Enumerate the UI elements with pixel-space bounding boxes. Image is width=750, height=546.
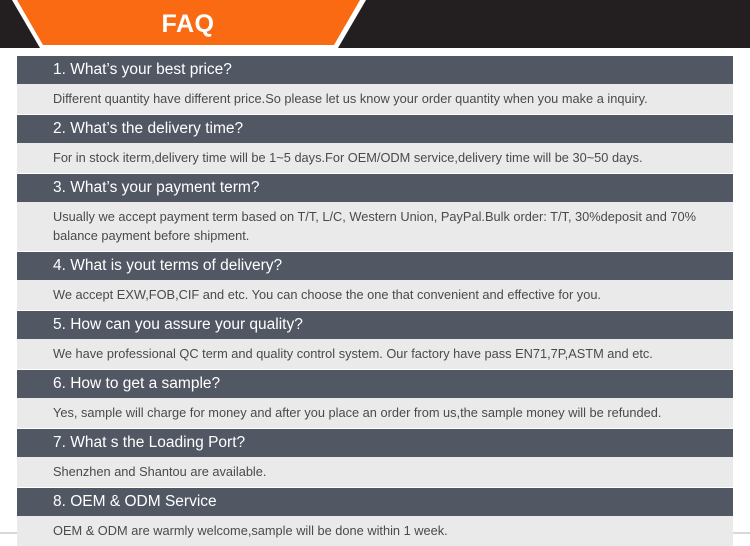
faq-question[interactable]: 2. What’s the delivery time? <box>17 115 733 143</box>
faq-question[interactable]: 3. What’s your payment term? <box>17 174 733 202</box>
faq-question[interactable]: 5. How can you assure your quality? <box>17 311 733 339</box>
faq-answer: Shenzhen and Shantou are available. <box>17 457 733 487</box>
faq-header: FAQ <box>0 0 750 48</box>
faq-item: 1. What’s your best price? Different qua… <box>17 56 733 114</box>
faq-item: 2. What’s the delivery time? For in stoc… <box>17 115 733 173</box>
faq-question[interactable]: 8. OEM & ODM Service <box>17 488 733 516</box>
page-title: FAQ <box>0 0 372 48</box>
faq-item: 6. How to get a sample? Yes, sample will… <box>17 370 733 428</box>
faq-answer: We have professional QC term and quality… <box>17 339 733 369</box>
faq-page: FAQ 1. What’s your best price? Different… <box>0 0 750 534</box>
faq-question[interactable]: 4. What is yout terms of delivery? <box>17 252 733 280</box>
faq-list: 1. What’s your best price? Different qua… <box>17 56 733 546</box>
faq-item: 4. What is yout terms of delivery? We ac… <box>17 252 733 310</box>
faq-answer: Different quantity have different price.… <box>17 84 733 114</box>
faq-item: 7. What s the Loading Port? Shenzhen and… <box>17 429 733 487</box>
faq-answer: Usually we accept payment term based on … <box>17 202 733 251</box>
faq-question[interactable]: 7. What s the Loading Port? <box>17 429 733 457</box>
faq-item: 5. How can you assure your quality? We h… <box>17 311 733 369</box>
faq-answer: Yes, sample will charge for money and af… <box>17 398 733 428</box>
faq-answer: OEM & ODM are warmly welcome,sample will… <box>17 516 733 546</box>
faq-item: 3. What’s your payment term? Usually we … <box>17 174 733 251</box>
faq-answer: We accept EXW,FOB,CIF and etc. You can c… <box>17 280 733 310</box>
faq-question[interactable]: 1. What’s your best price? <box>17 56 733 84</box>
faq-item: 8. OEM & ODM Service OEM & ODM are warml… <box>17 488 733 546</box>
faq-answer: For in stock iterm,delivery time will be… <box>17 143 733 173</box>
faq-question[interactable]: 6. How to get a sample? <box>17 370 733 398</box>
